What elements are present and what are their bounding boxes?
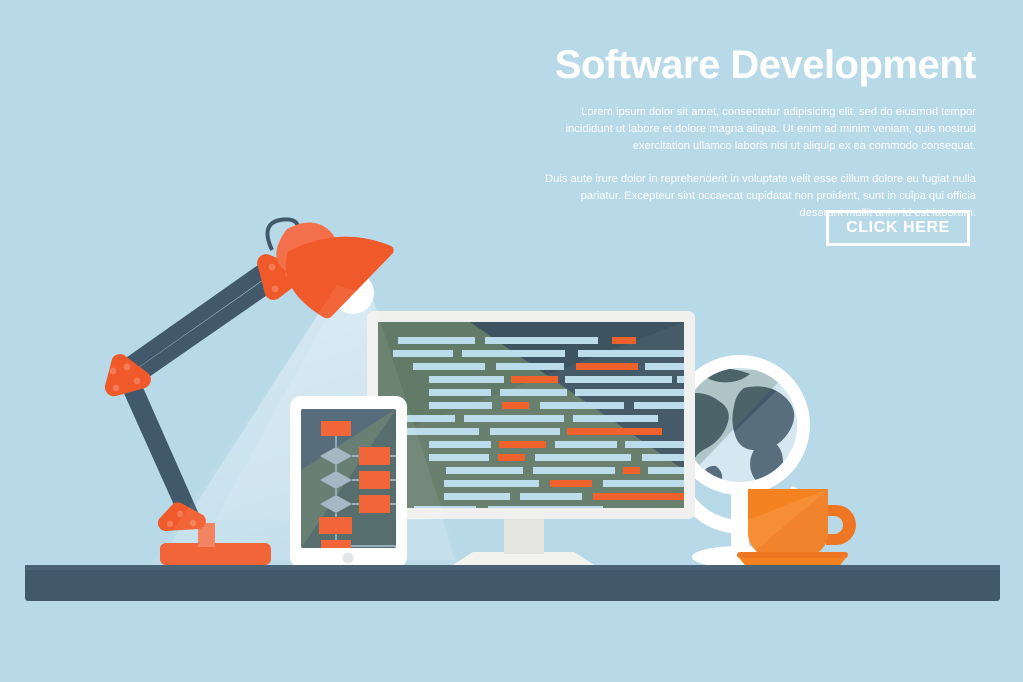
code-line-segment <box>603 480 689 487</box>
cup-saucer-rim <box>737 552 848 558</box>
code-line-segment <box>511 376 558 383</box>
code-line-segment <box>540 402 624 409</box>
code-line-segment <box>498 454 525 461</box>
page-title: Software Development <box>540 44 976 86</box>
code-line-segment <box>550 480 592 487</box>
monitor-base <box>451 552 596 566</box>
code-line-segment <box>533 467 615 474</box>
code-line-segment <box>499 441 546 448</box>
code-line-segment <box>413 363 485 370</box>
code-line-segment <box>520 493 582 500</box>
code-line-segment <box>429 389 491 396</box>
code-line-segment <box>576 363 638 370</box>
code-line-segment <box>429 454 489 461</box>
click-here-button[interactable]: CLICK HERE <box>826 210 970 246</box>
code-line-segment <box>429 376 504 383</box>
code-line-segment <box>446 467 523 474</box>
code-line-segment <box>612 337 636 344</box>
code-line-segment <box>502 402 529 409</box>
code-line-segment <box>575 389 690 396</box>
code-line-segment <box>464 415 564 422</box>
code-line-segment <box>500 389 567 396</box>
code-line-segment <box>535 454 631 461</box>
code-line-segment <box>623 467 640 474</box>
code-line-segment <box>496 363 564 370</box>
code-line-segment <box>567 428 662 435</box>
code-line-segment <box>393 350 453 357</box>
code-line-segment <box>485 337 598 344</box>
code-line-segment <box>573 415 658 422</box>
code-line-segment <box>444 480 539 487</box>
code-line-segment <box>565 376 672 383</box>
monitor-neck <box>504 518 544 554</box>
headline-block: Software Development Lorem ipsum dolor s… <box>540 44 976 238</box>
code-line-segment <box>555 441 617 448</box>
code-line-segment <box>429 441 491 448</box>
illustration-canvas: Software Development Lorem ipsum dolor s… <box>0 0 1023 682</box>
desk-surface <box>25 565 1000 601</box>
code-line-segment <box>462 350 565 357</box>
code-line-segment <box>444 493 510 500</box>
paragraph-one: Lorem ipsum dolor sit amet, consectetur … <box>540 104 976 155</box>
code-line-segment <box>429 402 492 409</box>
code-line-segment <box>490 428 560 435</box>
code-line-segment <box>398 337 475 344</box>
code-line-segment <box>578 350 694 357</box>
code-line-segment <box>593 493 690 500</box>
